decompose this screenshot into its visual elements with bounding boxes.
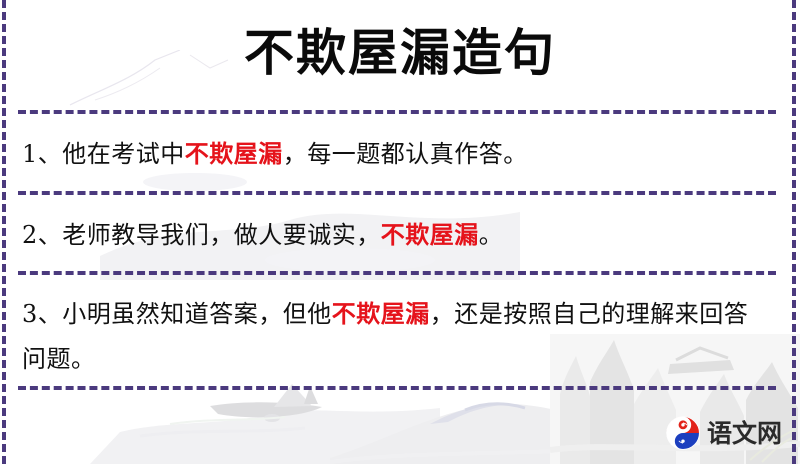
separator-line-1 [18,110,776,114]
site-logo-wordmark: 语文网 [707,420,782,447]
sentence-index-1: 1、 [22,140,62,168]
sentence-highlight-1: 不欺屋漏 [185,139,283,168]
separator-line-2 [18,191,776,195]
sentence-highlight-3: 不欺屋漏 [332,299,430,328]
sentence-text-after-1: ，每一题都认真作答。 [283,140,528,168]
sentence-item-1: 1、他在考试中不欺屋漏，每一题都认真作答。 [22,131,760,177]
sentence-text-before-3: 小明虽然知道答案，但他 [62,300,332,328]
frame-border-right [792,0,796,464]
sentence-item-2: 2、老师教导我们，做人要诚实，不欺屋漏。 [22,212,760,258]
sentence-text-after-2: 。 [479,221,504,249]
sentence-text-before-1: 他在考试中 [62,140,185,168]
separator-line-4 [18,386,776,390]
sentence-text-before-2: 老师教导我们，做人要诚实， [62,221,381,249]
sentence-index-3: 3、 [22,300,62,328]
page-title: 不欺屋漏造句 [0,22,800,84]
sentence-item-3: 3、小明虽然知道答案，但他不欺屋漏，还是按照自己的理解来回答问题。 [22,291,760,382]
yinyang-circle-icon [666,416,700,450]
slide-canvas: 不欺屋漏造句 1、他在考试中不欺屋漏，每一题都认真作答。 2、老师教导我们，做人… [0,0,800,464]
sentence-index-2: 2、 [22,221,62,249]
site-logo[interactable]: 语文网 [666,416,782,450]
sentence-highlight-2: 不欺屋漏 [381,220,479,249]
separator-line-3 [18,271,776,275]
frame-border-left [2,0,6,464]
